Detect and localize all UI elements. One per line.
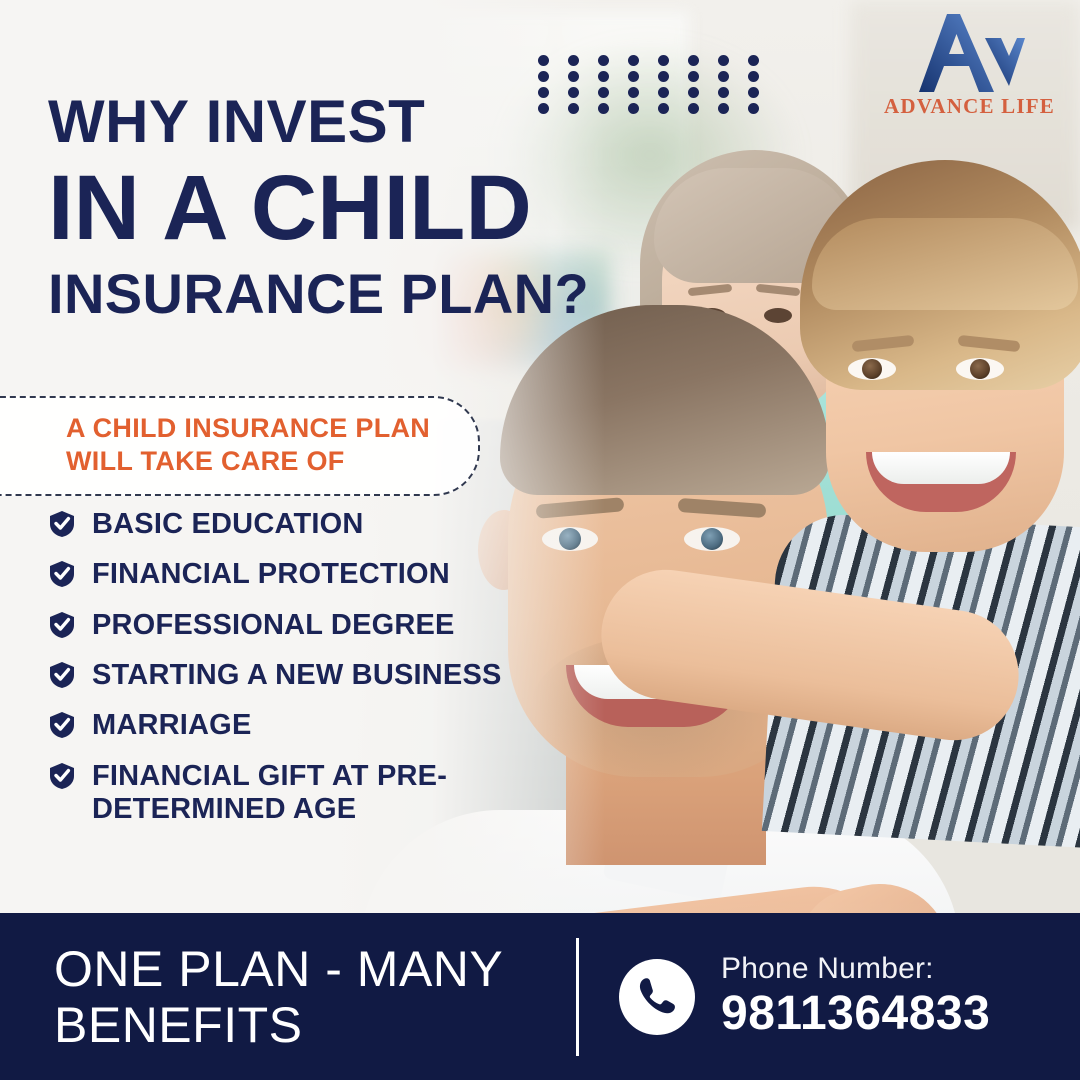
sub-banner-line-2: WILL TAKE CARE OF [66, 445, 478, 478]
benefits-list: BASIC EDUCATION FINANCIAL PROTECTION PRO… [50, 508, 570, 843]
list-item: BASIC EDUCATION [50, 508, 570, 541]
list-item: FINANCIAL GIFT AT PRE-DETERMINED AGE [50, 760, 570, 827]
shield-check-icon [50, 763, 74, 789]
shield-check-icon [50, 612, 74, 638]
list-item: MARRIAGE [50, 709, 570, 742]
brand-name: ADVANCE LIFE [884, 94, 1054, 119]
shield-check-icon [50, 662, 74, 688]
page-title: WHY INVEST IN A CHILD INSURANCE PLAN? [48, 92, 589, 322]
phone-badge [619, 959, 695, 1035]
list-item: STARTING A NEW BUSINESS [50, 659, 570, 692]
headline-line-1: WHY INVEST [48, 92, 589, 152]
benefit-label: FINANCIAL GIFT AT PRE-DETERMINED AGE [92, 760, 570, 827]
sub-banner: A CHILD INSURANCE PLAN WILL TAKE CARE OF [0, 396, 480, 496]
phone-label: Phone Number: [721, 952, 990, 985]
shield-check-icon [50, 712, 74, 738]
shield-check-icon [50, 511, 74, 537]
advance-life-a-v-monogram-icon [913, 14, 1025, 92]
shield-check-icon [50, 561, 74, 587]
footer-contact[interactable]: Phone Number: 9811364833 [619, 952, 990, 1041]
phone-handset-icon [634, 974, 680, 1020]
list-item: PROFESSIONAL DEGREE [50, 609, 570, 642]
headline-line-2: IN A CHILD [48, 162, 589, 254]
sub-banner-line-1: A CHILD INSURANCE PLAN [66, 412, 478, 445]
footer-tagline: ONE PLAN - MANY BENEFITS [54, 941, 554, 1053]
benefit-label: BASIC EDUCATION [92, 508, 364, 541]
benefit-label: MARRIAGE [92, 709, 252, 742]
list-item: FINANCIAL PROTECTION [50, 558, 570, 591]
footer-bar: ONE PLAN - MANY BENEFITS Phone Number: 9… [0, 913, 1080, 1080]
headline-line-3: INSURANCE PLAN? [48, 266, 589, 322]
benefit-label: PROFESSIONAL DEGREE [92, 609, 455, 642]
dot-grid-decoration-icon [538, 55, 778, 119]
footer-divider [576, 938, 579, 1056]
insurance-ad-poster: ADVANCE LIFE WHY INVEST IN A CHILD INSUR… [0, 0, 1080, 1080]
phone-number[interactable]: 9811364833 [721, 987, 990, 1041]
benefit-label: STARTING A NEW BUSINESS [92, 659, 502, 692]
benefit-label: FINANCIAL PROTECTION [92, 558, 450, 591]
brand-logo[interactable]: ADVANCE LIFE [884, 14, 1054, 119]
